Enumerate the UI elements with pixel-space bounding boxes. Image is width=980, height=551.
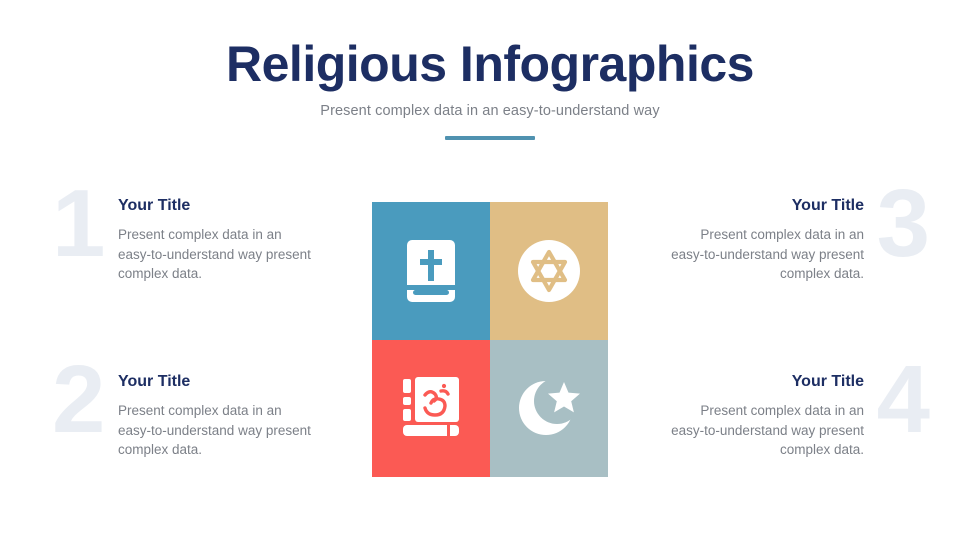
crescent-moon-star-icon — [517, 377, 581, 439]
item-number-4: 4 — [877, 352, 930, 448]
item-title-2: Your Title — [118, 372, 318, 391]
item-number-3: 3 — [877, 176, 930, 272]
info-item-3: 3 Your Title Present complex data in an … — [624, 196, 934, 326]
item-number-2: 2 — [52, 352, 105, 448]
info-item-2: 2 Your Title Present complex data in an … — [48, 372, 358, 502]
item-title-3: Your Title — [664, 196, 864, 215]
item-body-4: Present complex data in an easy-to-under… — [664, 401, 864, 460]
star-of-david-icon — [518, 240, 580, 302]
bible-cross-book-icon — [407, 240, 455, 302]
item-text-block-4: Your Title Present complex data in an ea… — [664, 372, 864, 460]
item-title-1: Your Title — [118, 196, 318, 215]
page-title: Religious Infographics — [0, 38, 980, 91]
info-item-1: 1 Your Title Present complex data in an … — [48, 196, 358, 326]
quadrant-christianity — [372, 202, 490, 340]
item-body-3: Present complex data in an easy-to-under… — [664, 225, 864, 284]
item-title-4: Your Title — [664, 372, 864, 391]
item-body-1: Present complex data in an easy-to-under… — [118, 225, 318, 284]
item-text-block-2: Your Title Present complex data in an ea… — [118, 372, 318, 460]
item-text-block-3: Your Title Present complex data in an ea… — [664, 196, 864, 284]
hindu-om-book-icon — [403, 377, 459, 439]
item-number-1: 1 — [52, 176, 105, 272]
item-text-block-1: Your Title Present complex data in an ea… — [118, 196, 318, 284]
religion-icon-grid — [372, 202, 608, 477]
item-body-2: Present complex data in an easy-to-under… — [118, 401, 318, 460]
quadrant-islam — [490, 340, 608, 478]
quadrant-hinduism — [372, 340, 490, 478]
info-item-4: 4 Your Title Present complex data in an … — [624, 372, 934, 502]
page-subtitle: Present complex data in an easy-to-under… — [0, 103, 980, 119]
quadrant-judaism — [490, 202, 608, 340]
accent-divider — [445, 136, 535, 140]
page-header: Religious Infographics Present complex d… — [0, 38, 980, 140]
